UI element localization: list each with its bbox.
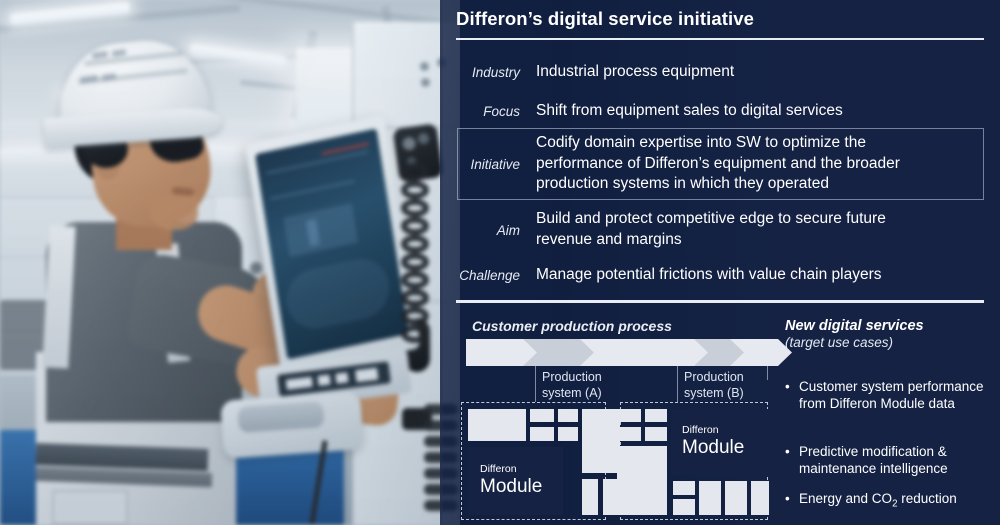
row-value-initiative: Codify domain expertise into SW to optim… [536,133,936,195]
module-name: Module [480,476,563,498]
module-brand: Differon [682,425,769,437]
system-block [645,409,667,422]
bullet-icon: • [785,490,799,511]
customer-process-label: Customer production process [472,318,672,334]
system-block [617,427,641,441]
service-bullet-3-post: reduction [897,491,956,506]
page-title: Differon’s digital service initiative [456,8,754,30]
services-subheading: (target use cases) [785,335,995,350]
service-bullet-2: • Predictive modification & maintenance … [785,443,990,478]
row-value-industry: Industrial process equipment [536,62,734,83]
row-label-focus: Focus [440,104,536,119]
service-bullet-2-text: Predictive modification & maintenance in… [799,443,990,478]
system-block [699,481,721,515]
system-block [530,409,554,422]
bullet-icon: • [785,378,799,413]
system-block [751,481,769,515]
system-block [558,427,578,441]
system-block [725,481,747,515]
row-aim: Aim Build and protect competitive edge t… [440,209,1000,251]
row-label-initiative: Initiative [440,157,536,172]
system-b-tick [677,366,678,402]
row-label-aim: Aim [440,223,536,238]
new-digital-services: New digital services (target use cases) [785,318,995,350]
process-chevron-strip [466,339,766,366]
production-system-a-box: Differon Module [461,402,606,520]
factory-photo [0,0,460,525]
row-focus: Focus Shift from equipment sales to digi… [440,101,1000,122]
production-system-a-label: Production system (A) [542,370,602,401]
row-industry: Industry Industrial process equipment [440,62,1000,83]
system-block [617,409,641,422]
info-panel: Differon’s digital service initiative In… [440,0,1000,525]
service-bullet-3: • Energy and CO2 reduction [785,490,990,511]
module-brand: Differon [480,464,563,476]
system-block [468,409,526,441]
row-label-industry: Industry [440,65,536,80]
row-value-aim: Build and protect competitive edge to se… [536,209,936,250]
system-block [582,479,598,515]
row-initiative: Initiative Codify domain expertise into … [440,131,1000,197]
process-end-tick [767,366,768,380]
system-block [558,409,578,422]
title-divider [456,38,984,40]
system-block [673,499,695,515]
row-label-challenge: Challenge [440,268,536,283]
system-block [645,427,667,441]
module-name: Module [682,437,769,459]
slide-root: Differon’s digital service initiative In… [0,0,1000,525]
production-system-b-label: Production system (B) [684,370,744,401]
photo-color-grade [0,0,460,525]
row-challenge: Challenge Manage potential frictions wit… [440,265,1000,286]
system-a-tick [535,366,536,402]
differon-module-a: Differon Module [469,447,563,515]
production-system-b-box: Differon Module [620,402,768,520]
service-bullet-3-text: Energy and CO2 reduction [799,490,957,511]
section-divider [456,300,984,303]
service-bullet-3-pre: Energy and CO [799,491,892,506]
service-bullet-1: • Customer system performance from Diffe… [785,378,990,413]
process-chevron-end [730,339,792,366]
row-value-focus: Shift from equipment sales to digital se… [536,101,843,122]
system-block [530,427,554,441]
row-value-challenge: Manage potential frictions with value ch… [536,265,882,286]
service-bullet-1-text: Customer system performance from Differo… [799,378,990,413]
bullet-icon: • [785,443,799,478]
system-block [582,409,620,473]
services-heading: New digital services [785,318,995,334]
system-block [617,446,667,515]
system-block [673,481,695,495]
differon-module-b: Differon Module [671,409,769,475]
